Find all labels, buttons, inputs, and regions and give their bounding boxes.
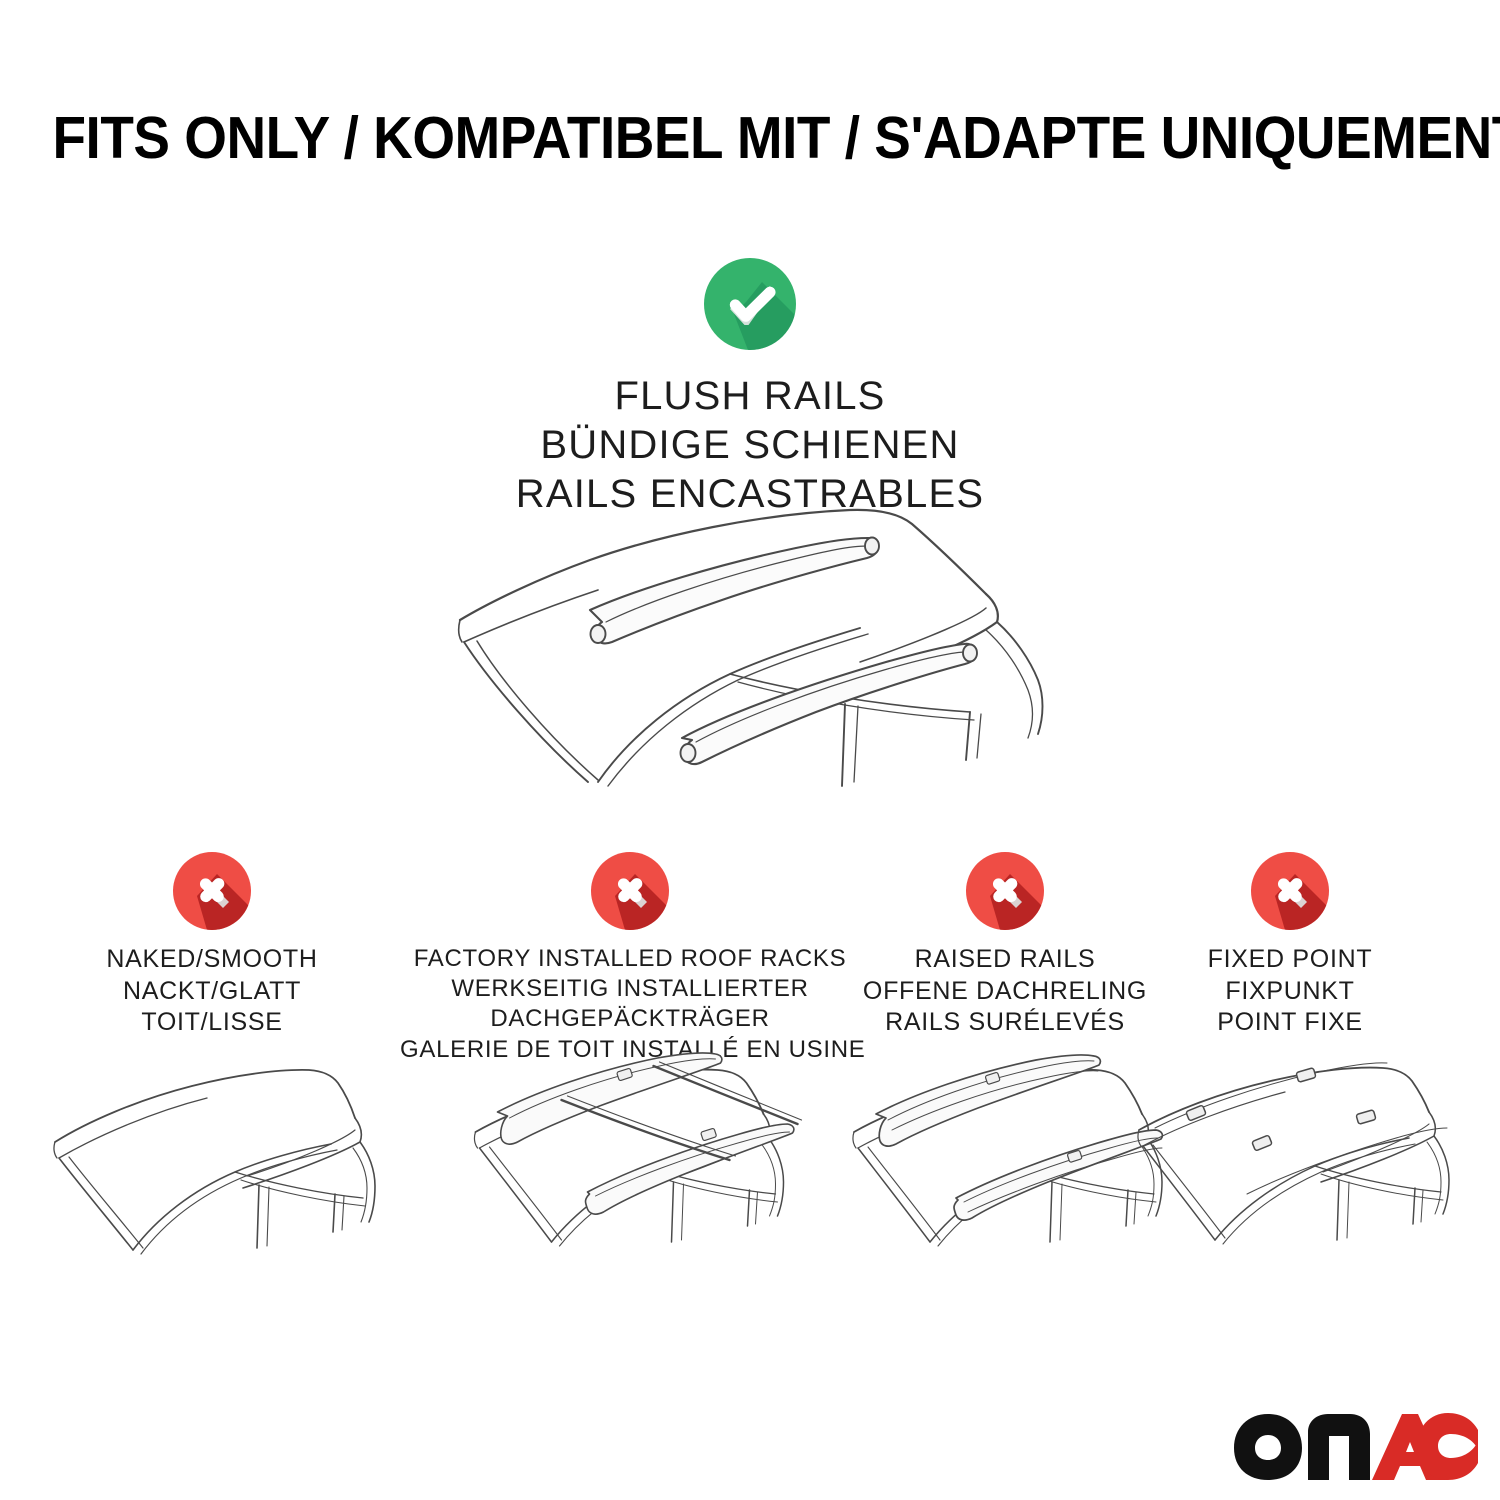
omac-logo <box>1232 1408 1480 1480</box>
check-circle-icon <box>704 258 796 350</box>
label-line-en: NAKED/SMOOTH <box>62 944 362 976</box>
label-line-fr: POINT FIXE <box>1155 1007 1425 1039</box>
incompatible-item-naked-smooth: NAKED/SMOOTH NACKT/GLATT TOIT/LISSE <box>62 852 362 1039</box>
label-line-en: FIXED POINT <box>1155 944 1425 976</box>
cross-circle-icon <box>966 852 1044 930</box>
label-line-fr: TOIT/LISSE <box>62 1007 362 1039</box>
car-roof-with-flush-rails-illustration <box>430 490 1090 790</box>
car-roof-with-raised-rails-illustration <box>840 1052 1170 1262</box>
incompatible-label-factory-roof-racks: FACTORY INSTALLED ROOF RACKS WERKSEITIG … <box>400 944 860 1065</box>
page-title: FITS ONLY / KOMPATIBEL MIT / S'ADAPTE UN… <box>53 104 1448 172</box>
car-roof-naked-smooth-illustration <box>47 1052 377 1262</box>
label-line-de: OFFENE DACHRELING <box>855 976 1155 1008</box>
label-line-de-2: DACHGEPÄCKTRÄGER <box>400 1004 860 1034</box>
fitment-infographic: FITS ONLY / KOMPATIBEL MIT / S'ADAPTE UN… <box>0 0 1500 1500</box>
label-line-en: RAISED RAILS <box>855 944 1155 976</box>
incompatible-item-fixed-point: FIXED POINT FIXPUNKT POINT FIXE <box>1155 852 1425 1039</box>
label-line-en: FACTORY INSTALLED ROOF RACKS <box>400 944 860 974</box>
compatible-section: FLUSH RAILS BÜNDIGE SCHIENEN RAILS ENCAS… <box>250 258 1250 518</box>
cross-circle-icon <box>591 852 669 930</box>
label-line-fr: RAILS SURÉLEVÉS <box>855 1007 1155 1039</box>
cross-circle-icon <box>173 852 251 930</box>
label-line-de: NACKT/GLATT <box>62 976 362 1008</box>
incompatible-section: NAKED/SMOOTH NACKT/GLATT TOIT/LISSE <box>0 852 1500 1272</box>
incompatible-item-factory-roof-racks: FACTORY INSTALLED ROOF RACKS WERKSEITIG … <box>400 852 860 1065</box>
compatible-label-de: BÜNDIGE SCHIENEN <box>250 421 1250 470</box>
car-roof-with-factory-crossbars-illustration <box>458 1052 803 1262</box>
label-line-de-1: WERKSEITIG INSTALLIERTER <box>400 974 860 1004</box>
incompatible-label-raised-rails: RAISED RAILS OFFENE DACHRELING RAILS SUR… <box>855 944 1155 1039</box>
incompatible-item-raised-rails: RAISED RAILS OFFENE DACHRELING RAILS SUR… <box>855 852 1155 1039</box>
cross-circle-icon <box>1251 852 1329 930</box>
compatible-label-en: FLUSH RAILS <box>250 372 1250 421</box>
car-roof-with-fixed-points-illustration <box>1125 1052 1455 1262</box>
incompatible-label-naked-smooth: NAKED/SMOOTH NACKT/GLATT TOIT/LISSE <box>62 944 362 1039</box>
incompatible-label-fixed-point: FIXED POINT FIXPUNKT POINT FIXE <box>1155 944 1425 1039</box>
label-line-de: FIXPUNKT <box>1155 976 1425 1008</box>
